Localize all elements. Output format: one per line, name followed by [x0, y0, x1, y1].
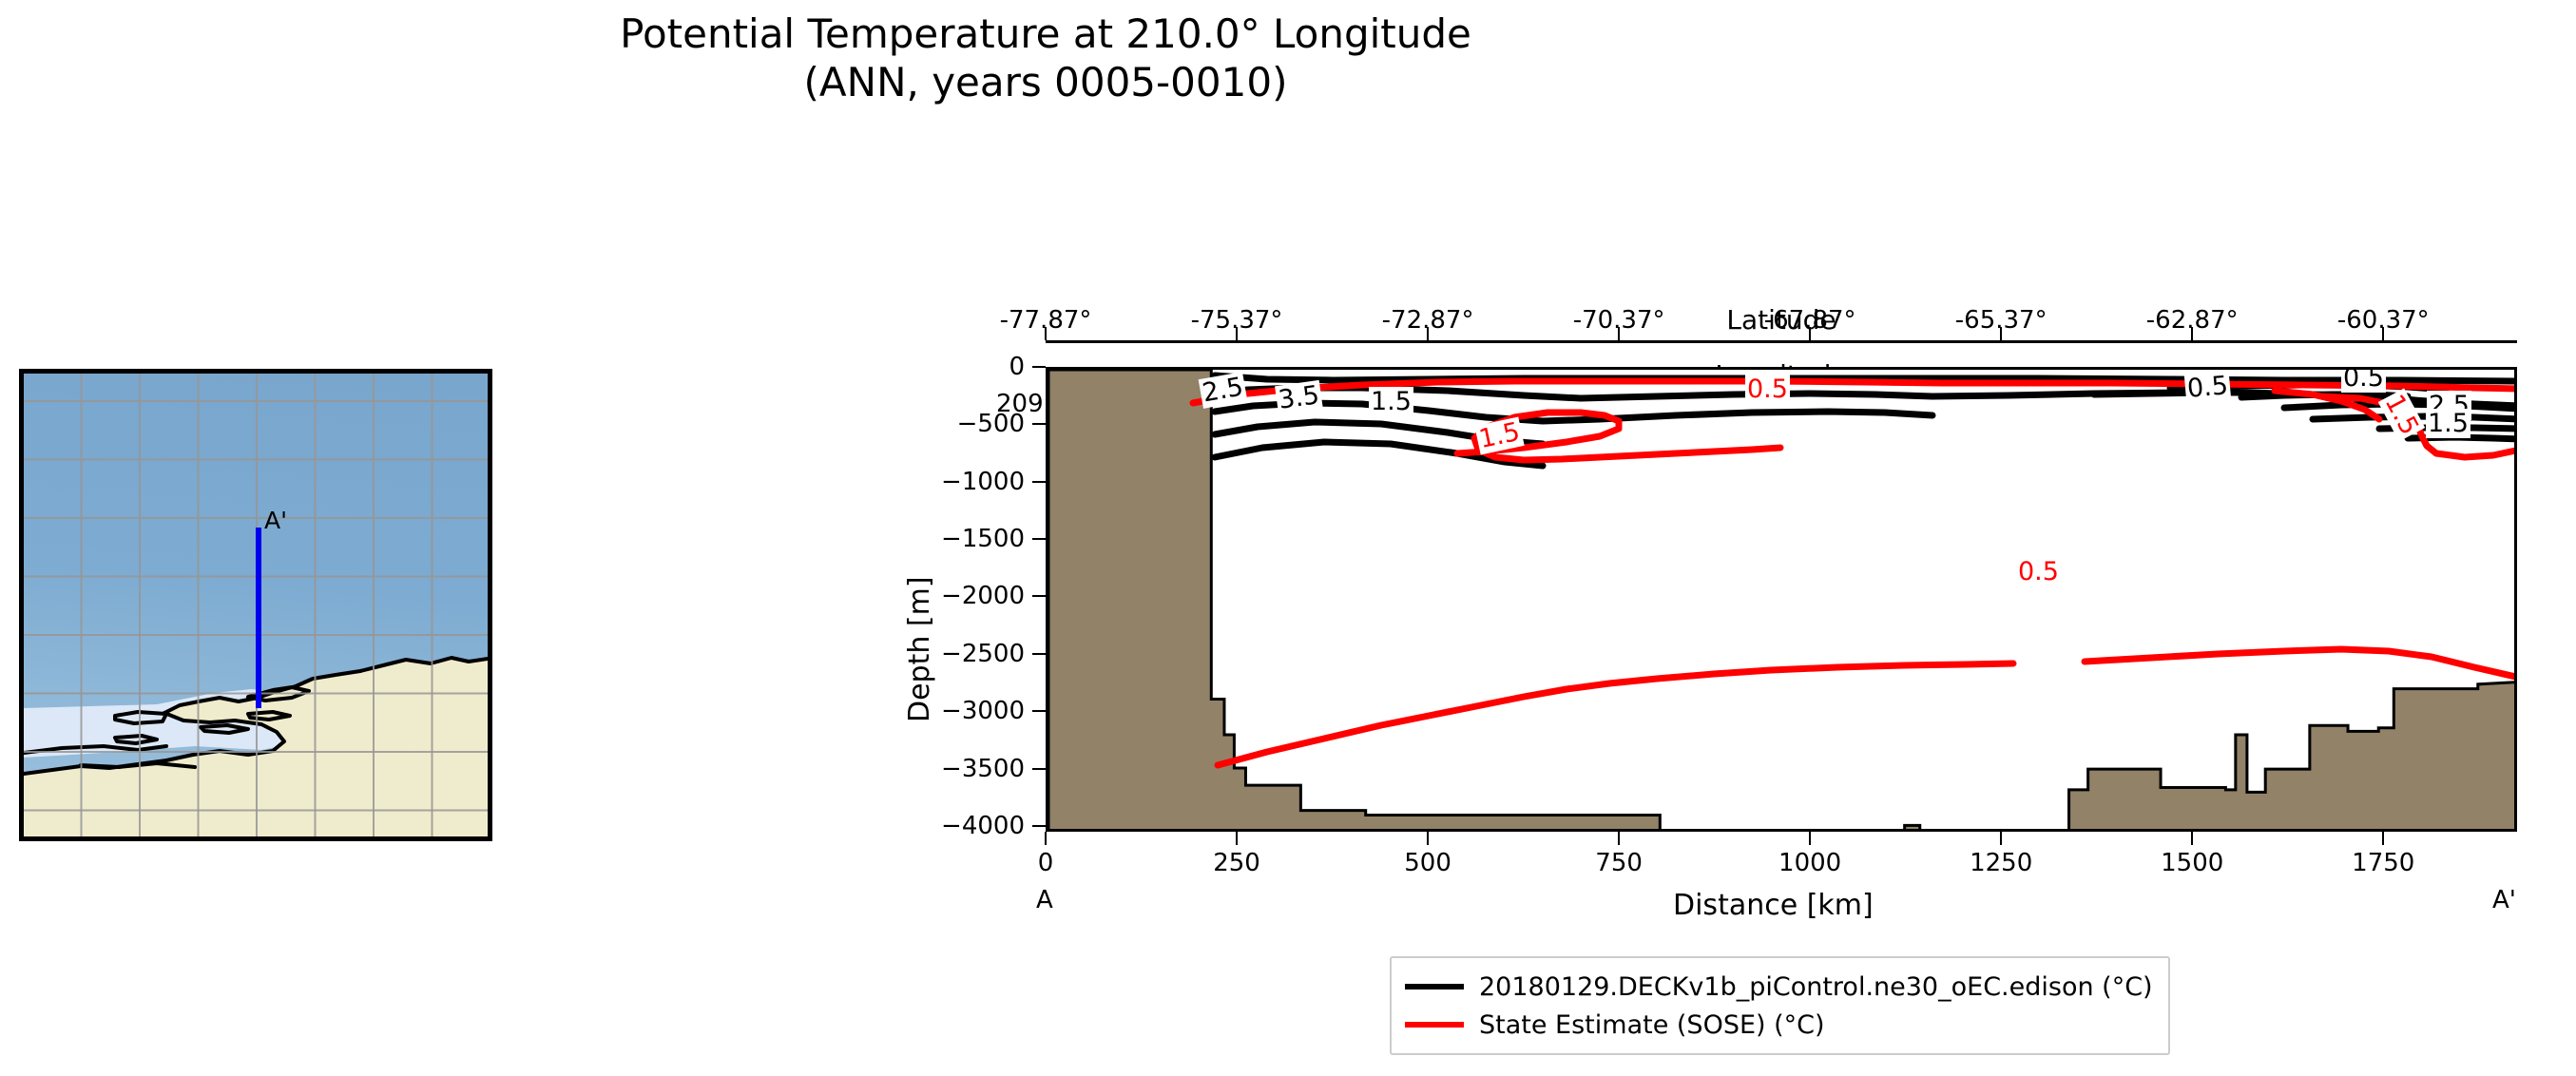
y-axis-tick-label: −1500 [941, 525, 1025, 553]
y-axis-tick-label: −500 [957, 410, 1025, 438]
y-axis-tick [1032, 423, 1046, 425]
x-axis-tick-label: 750 [1595, 849, 1643, 877]
x-axis-tick [2382, 832, 2384, 845]
legend-label: 20180129.DECKv1b_piControl.ne30_oEC.edis… [1479, 972, 2153, 1002]
x-axis-tick [1427, 832, 1429, 845]
transect-start-label: A [1036, 886, 1053, 914]
y-axis-tick-label: −4000 [941, 812, 1025, 840]
y-axis-tick [1032, 825, 1046, 827]
x-axis-tick-label: 0 [1038, 849, 1054, 877]
legend[interactable]: 20180129.DECKv1b_piControl.ne30_oEC.edis… [1390, 956, 2170, 1055]
x-axis-title: Distance [km] [1673, 889, 1874, 922]
x-axis-tick-label: 250 [1213, 849, 1260, 877]
x-axis-tick-label: 1500 [2161, 849, 2223, 877]
legend-entry[interactable]: State Estimate (SOSE) (°C) [1405, 1006, 2153, 1044]
y-axis-tick-label: −3500 [941, 755, 1025, 783]
x-axis-tick-label: 500 [1404, 849, 1451, 877]
legend-color-swatch [1405, 984, 1464, 990]
y-axis-tick [1032, 768, 1046, 770]
legend-entry[interactable]: 20180129.DECKv1b_piControl.ne30_oEC.edis… [1405, 968, 2153, 1006]
y-axis-tick-label: 0 [1009, 353, 1025, 381]
y-axis-tick [1032, 538, 1046, 540]
y-axis-tick-label: −2500 [941, 640, 1025, 668]
y-axis-tick-label: −3000 [941, 697, 1025, 725]
legend-label: State Estimate (SOSE) (°C) [1479, 1010, 1825, 1040]
x-axis-tick-label: 1000 [1778, 849, 1841, 877]
y-axis-tick-label: −2000 [941, 582, 1025, 610]
x-axis-tick [1618, 832, 1620, 845]
legend-color-swatch [1405, 1022, 1464, 1028]
axis-decorations: 025050075010001250150017500−500−1000−150… [0, 0, 2576, 1076]
x-axis-tick [2000, 832, 2002, 845]
x-axis-tick [1236, 832, 1238, 845]
y-axis-tick [1032, 595, 1046, 597]
y-axis-tick [1032, 710, 1046, 712]
x-axis-tick [1045, 832, 1047, 845]
y-axis-tick [1032, 653, 1046, 655]
x-axis-tick [1809, 832, 1811, 845]
y-axis-title: Depth [m] [903, 576, 936, 722]
x-axis-tick-label: 1750 [2352, 849, 2414, 877]
figure-root: Potential Temperature at 210.0° Longitud… [0, 0, 2576, 1076]
y-axis-tick-label: −1000 [941, 468, 1025, 496]
x-axis-tick [2191, 832, 2193, 845]
y-axis-tick [1032, 481, 1046, 483]
y-axis-tick [1032, 366, 1046, 368]
x-axis-tick-label: 1250 [1970, 849, 2032, 877]
transect-end-label: A' [2492, 886, 2516, 914]
